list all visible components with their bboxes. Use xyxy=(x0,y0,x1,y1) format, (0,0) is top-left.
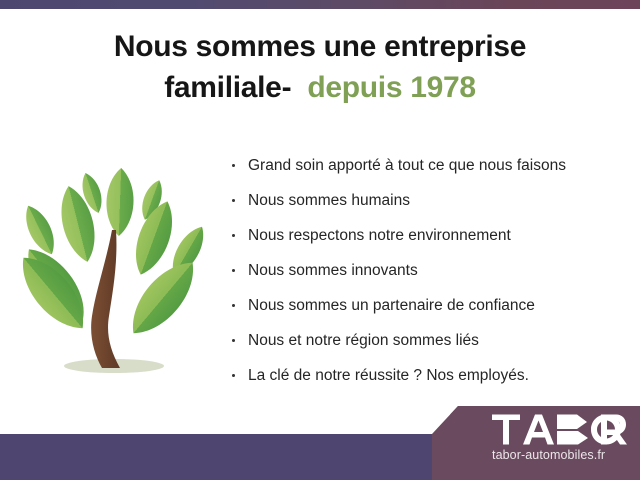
tabor-wordmark-icon xyxy=(492,414,628,446)
brand-logo[interactable]: tabor-automobiles.fr xyxy=(492,414,632,472)
bullet-icon xyxy=(232,234,235,237)
bullet-icon xyxy=(232,164,235,167)
list-item-label: La clé de notre réussite ? Nos employés. xyxy=(248,367,529,384)
bullet-icon xyxy=(232,199,235,202)
bullet-icon xyxy=(232,269,235,272)
list-item: Nous sommes un partenaire de confiance xyxy=(230,288,630,323)
logo-tagline: tabor-automobiles.fr xyxy=(492,448,632,462)
value-list: Grand soin apporté à tout ce que nous fa… xyxy=(230,148,630,393)
list-item: Nous et notre région sommes liés xyxy=(230,323,630,358)
bullet-icon xyxy=(232,304,235,307)
headline-accent-text: depuis 1978 xyxy=(307,71,475,104)
list-item-label: Nous sommes innovants xyxy=(248,262,418,279)
headline-line-1: Nous sommes une entreprise xyxy=(114,30,526,63)
tree-illustration xyxy=(8,158,224,390)
list-item-label: Grand soin apporté à tout ce que nous fa… xyxy=(248,157,566,174)
tree-trunk xyxy=(91,230,120,368)
bullet-icon xyxy=(232,374,235,377)
headline-main-text: familiale xyxy=(164,71,281,104)
top-accent-bar xyxy=(0,0,640,9)
list-item: Nous sommes humains xyxy=(230,183,630,218)
list-item-label: Nous sommes humains xyxy=(248,192,410,209)
list-item: Grand soin apporté à tout ce que nous fa… xyxy=(230,148,630,183)
page-title: Nous sommes une entreprise familiale- de… xyxy=(0,26,640,109)
list-item: Nous respectons notre environnement xyxy=(230,218,630,253)
list-item-label: Nous et notre région sommes liés xyxy=(248,332,479,349)
headline-line-2: familiale- depuis 1978 xyxy=(0,67,640,108)
list-item-label: Nous respectons notre environnement xyxy=(248,227,511,244)
headline-separator: - xyxy=(282,71,292,104)
bullet-icon xyxy=(232,339,235,342)
list-item: La clé de notre réussite ? Nos employés. xyxy=(230,358,630,393)
slide-canvas: Nous sommes une entreprise familiale- de… xyxy=(0,0,640,480)
list-item: Nous sommes innovants xyxy=(230,253,630,288)
list-item-label: Nous sommes un partenaire de confiance xyxy=(248,297,535,314)
